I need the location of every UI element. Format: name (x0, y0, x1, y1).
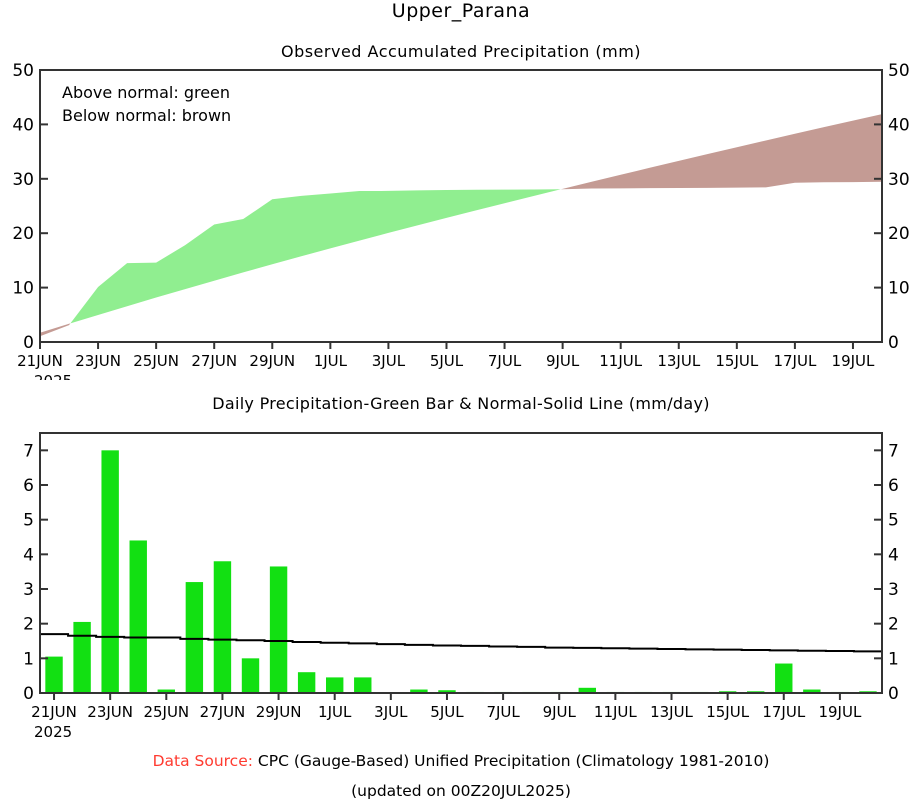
daily-precipitation-chart: 001122334455667721JUN23JUN25JUN27JUN29JU… (0, 415, 922, 745)
svg-text:21JUN: 21JUN (31, 703, 77, 721)
bottom-chart-subtitle: Daily Precipitation-Green Bar & Normal-S… (0, 394, 922, 413)
daily-precip-bar (242, 658, 259, 693)
daily-precip-bar (186, 582, 203, 693)
svg-text:5JUL: 5JUL (430, 352, 464, 370)
svg-text:50: 50 (12, 61, 34, 81)
svg-text:4: 4 (888, 545, 899, 565)
svg-text:20: 20 (888, 224, 910, 244)
top-chart-subtitle: Observed Accumulated Precipitation (mm) (0, 42, 922, 61)
svg-text:7: 7 (23, 441, 34, 461)
svg-text:3JUL: 3JUL (372, 352, 406, 370)
svg-text:20: 20 (12, 224, 34, 244)
svg-text:17JUL: 17JUL (773, 352, 816, 370)
svg-text:5: 5 (888, 511, 899, 531)
svg-text:15JUL: 15JUL (706, 703, 749, 721)
daily-precip-bar (270, 566, 287, 693)
svg-text:4: 4 (23, 545, 34, 565)
svg-text:3JUL: 3JUL (374, 703, 408, 721)
accumulated-precipitation-chart: 001010202030304040505021JUN23JUN25JUN27J… (0, 60, 922, 380)
daily-precip-bar (214, 561, 231, 693)
svg-text:0: 0 (23, 333, 34, 353)
svg-text:23JUN: 23JUN (87, 703, 133, 721)
svg-text:1JUL: 1JUL (314, 352, 348, 370)
svg-text:2025: 2025 (34, 723, 72, 741)
data-source-text: CPC (Gauge-Based) Unified Precipitation … (258, 752, 770, 770)
svg-text:7JUL: 7JUL (488, 352, 522, 370)
svg-text:50: 50 (888, 61, 910, 81)
daily-precip-bar (326, 677, 343, 693)
daily-precip-bar (101, 450, 118, 693)
svg-text:9JUL: 9JUL (543, 703, 577, 721)
page-title: Upper_Parana (0, 0, 922, 22)
normal-line (40, 634, 882, 651)
svg-text:9JUL: 9JUL (546, 352, 580, 370)
svg-text:1: 1 (23, 649, 34, 669)
svg-text:2: 2 (888, 615, 899, 635)
data-source-label: Data Source: (153, 752, 253, 770)
daily-plot-svg: 001122334455667721JUN23JUN25JUN27JUN29JU… (0, 415, 922, 745)
daily-precip-bar (775, 664, 792, 693)
svg-text:30: 30 (12, 170, 34, 190)
svg-text:15JUL: 15JUL (715, 352, 758, 370)
svg-text:11JUL: 11JUL (599, 352, 642, 370)
svg-text:7: 7 (888, 441, 899, 461)
daily-precip-bar (45, 657, 62, 693)
svg-text:13JUL: 13JUL (650, 703, 693, 721)
daily-precip-bar (354, 677, 371, 693)
svg-text:0: 0 (888, 684, 899, 704)
svg-text:7JUL: 7JUL (486, 703, 520, 721)
svg-text:30: 30 (888, 170, 910, 190)
svg-text:0: 0 (888, 333, 899, 353)
svg-text:1: 1 (888, 649, 899, 669)
svg-text:10: 10 (888, 279, 910, 299)
svg-text:19JUL: 19JUL (818, 703, 861, 721)
data-source-line: Data Source: CPC (Gauge-Based) Unified P… (0, 752, 922, 770)
daily-precip-bar (298, 672, 315, 693)
svg-text:40: 40 (12, 115, 34, 135)
svg-text:11JUL: 11JUL (594, 703, 637, 721)
chart-page: Upper_Parana Observed Accumulated Precip… (0, 0, 922, 809)
svg-text:2025: 2025 (34, 372, 72, 380)
svg-text:10: 10 (12, 279, 34, 299)
svg-text:17JUL: 17JUL (762, 703, 805, 721)
accumulated-plot-svg: 001010202030304040505021JUN23JUN25JUN27J… (0, 60, 922, 380)
svg-text:27JUN: 27JUN (200, 703, 246, 721)
svg-text:19JUL: 19JUL (832, 352, 875, 370)
daily-precip-bar (73, 622, 90, 693)
svg-text:21JUN: 21JUN (17, 352, 63, 370)
svg-text:27JUN: 27JUN (191, 352, 237, 370)
svg-text:3: 3 (23, 580, 34, 600)
svg-text:6: 6 (23, 476, 34, 496)
updated-line: (updated on 00Z20JUL2025) (0, 782, 922, 800)
svg-text:5: 5 (23, 511, 34, 531)
svg-text:40: 40 (888, 115, 910, 135)
svg-text:Above normal: green: Above normal: green (62, 83, 230, 102)
svg-text:13JUL: 13JUL (657, 352, 700, 370)
svg-text:25JUN: 25JUN (143, 703, 189, 721)
svg-text:25JUN: 25JUN (133, 352, 179, 370)
svg-text:23JUN: 23JUN (75, 352, 121, 370)
svg-text:29JUN: 29JUN (256, 703, 302, 721)
svg-text:6: 6 (888, 476, 899, 496)
svg-text:0: 0 (23, 684, 34, 704)
svg-text:2: 2 (23, 615, 34, 635)
svg-text:1JUL: 1JUL (318, 703, 352, 721)
svg-text:5JUL: 5JUL (430, 703, 464, 721)
svg-text:29JUN: 29JUN (249, 352, 295, 370)
svg-text:3: 3 (888, 580, 899, 600)
svg-text:Below normal: brown: Below normal: brown (62, 106, 231, 125)
daily-precip-bar (130, 540, 147, 693)
